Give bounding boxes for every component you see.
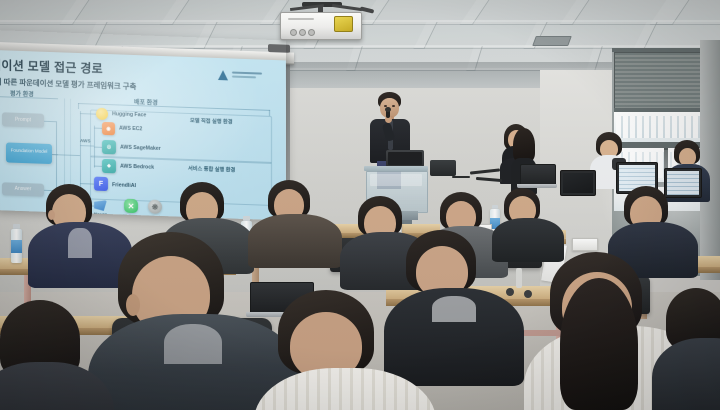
name-placard-3: [572, 238, 598, 251]
right-wall-edge: [700, 40, 720, 280]
seminar-room-photo: 데이션 모델 접근 경로 강에 따른 파운데이션 모델 평가 프레임워크 구축 …: [0, 0, 720, 410]
ceiling-projector: [272, 2, 376, 42]
desktop-monitor-2: [664, 168, 702, 198]
desktop-monitor-3: [560, 170, 596, 196]
projector-lens: [334, 16, 353, 32]
ceiling-vent-2: [532, 36, 572, 46]
slide-glow: [0, 50, 286, 220]
projection-screen: 데이션 모델 접근 경로 강에 따른 파운데이션 모델 평가 프레임워크 구축 …: [0, 30, 286, 220]
av-equipment: [430, 160, 456, 176]
